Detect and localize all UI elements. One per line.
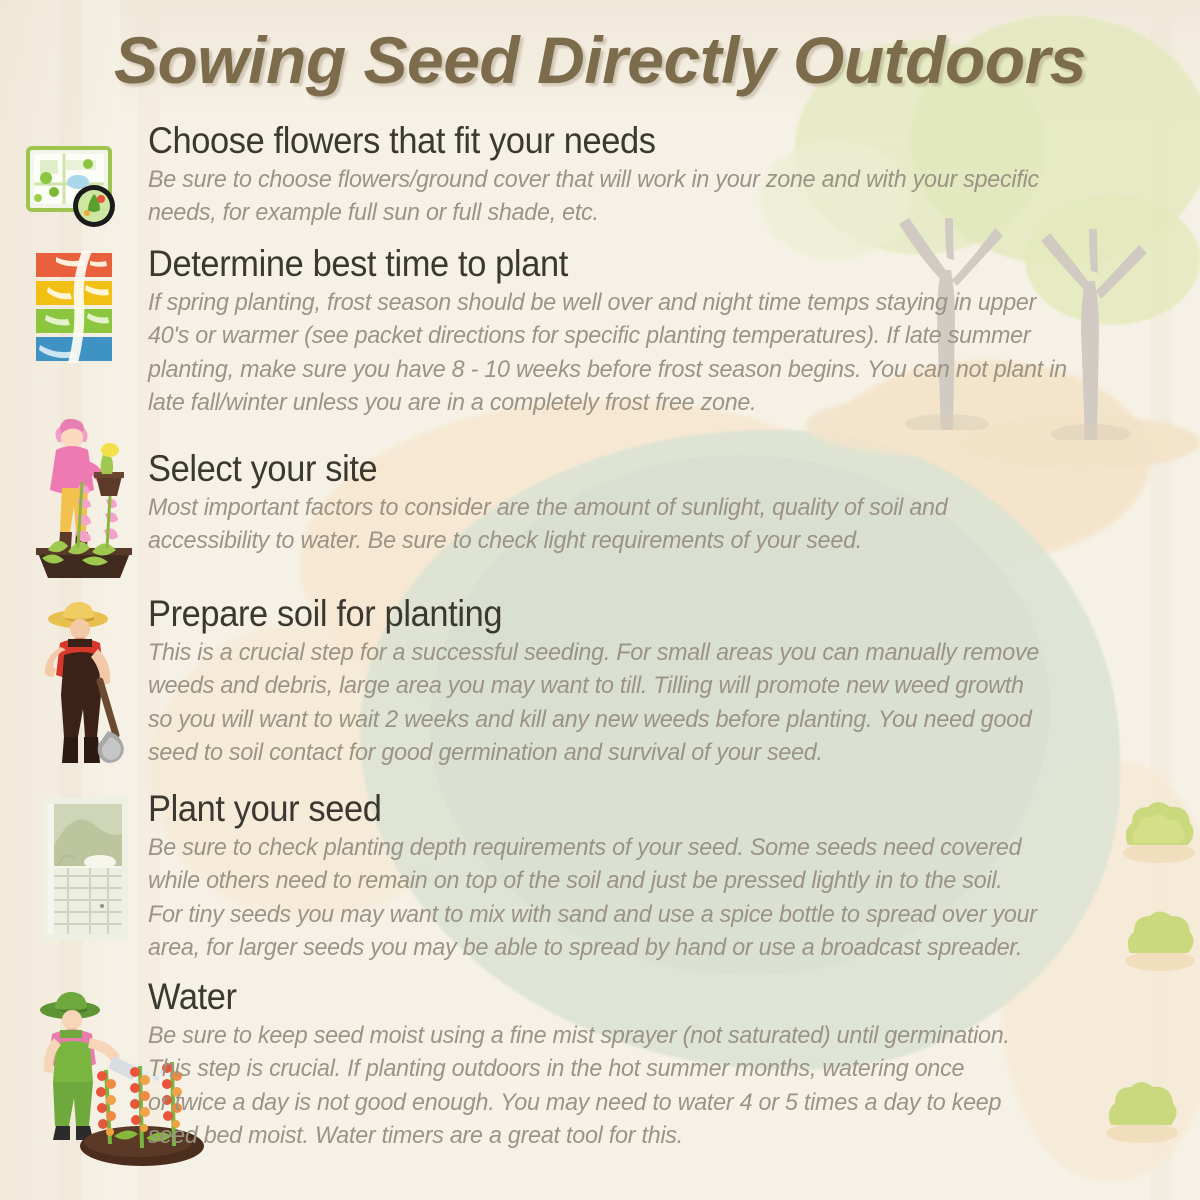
body-line: For tiny seeds you may want to mix with … bbox=[148, 898, 1108, 931]
section-body: Most important factors to consider are t… bbox=[148, 491, 1108, 558]
body-line: weeds and debris, large area you may wan… bbox=[148, 669, 1108, 702]
body-line: Be sure to check planting depth requirem… bbox=[148, 831, 1108, 864]
body-line: seed to soil contact for good germinatio… bbox=[148, 736, 1108, 769]
section-heading: Plant your seed bbox=[148, 790, 1087, 827]
section-heading: Select your site bbox=[148, 450, 1087, 487]
four-seasons-bands-icon bbox=[30, 251, 150, 363]
section-body: If spring planting, frost season should … bbox=[148, 286, 1108, 419]
body-line: Be sure to choose flowers/ground cover t… bbox=[148, 163, 1108, 196]
body-line: Be sure to keep seed moist using a fine … bbox=[148, 1019, 1108, 1052]
body-line: area, for larger seeds you may be able t… bbox=[148, 931, 1108, 964]
body-line: late fall/winter unless you are in a com… bbox=[148, 386, 1108, 419]
body-line: planting, make sure you have 8 - 10 week… bbox=[148, 353, 1108, 386]
seed-packet-rows-photo-icon bbox=[38, 796, 158, 944]
farmer-digging-shovel-icon bbox=[28, 599, 148, 771]
section-heading: Choose flowers that fit your needs bbox=[148, 122, 1087, 159]
section-heading: Water bbox=[148, 978, 1087, 1015]
body-line: while others need to remain on top of th… bbox=[148, 864, 1108, 897]
section-body: Be sure to choose flowers/ground cover t… bbox=[148, 163, 1108, 230]
section-body: Be sure to keep seed moist using a fine … bbox=[148, 1019, 1108, 1152]
body-line: If spring planting, frost season should … bbox=[148, 286, 1108, 319]
body-line: 40's or warmer (see packet directions fo… bbox=[148, 319, 1108, 352]
section-body: Be sure to check planting depth requirem… bbox=[148, 831, 1108, 964]
body-line: so you will want to wait 2 weeks and kil… bbox=[148, 703, 1108, 736]
gardener-planting-foxglove-icon bbox=[22, 410, 142, 586]
section-heading: Prepare soil for planting bbox=[148, 595, 1087, 632]
body-line: accessibility to water. Be sure to check… bbox=[148, 524, 1108, 557]
body-line: Most important factors to consider are t… bbox=[148, 491, 1108, 524]
section-heading: Determine best time to plant bbox=[148, 245, 1087, 282]
body-line: needs, for example full sun or full shad… bbox=[148, 196, 1108, 229]
body-line: or twice a day is not good enough. You m… bbox=[148, 1086, 1108, 1119]
body-line: seed bed moist. Water timers are a great… bbox=[148, 1119, 1108, 1152]
garden-plan-map-icon bbox=[18, 140, 138, 236]
body-line: This step is crucial. If planting outdoo… bbox=[148, 1052, 1108, 1085]
body-line: This is a crucial step for a successful … bbox=[148, 636, 1108, 669]
page-title: Sowing Seed Directly Outdoors bbox=[0, 22, 1200, 98]
section-body: This is a crucial step for a successful … bbox=[148, 636, 1108, 769]
